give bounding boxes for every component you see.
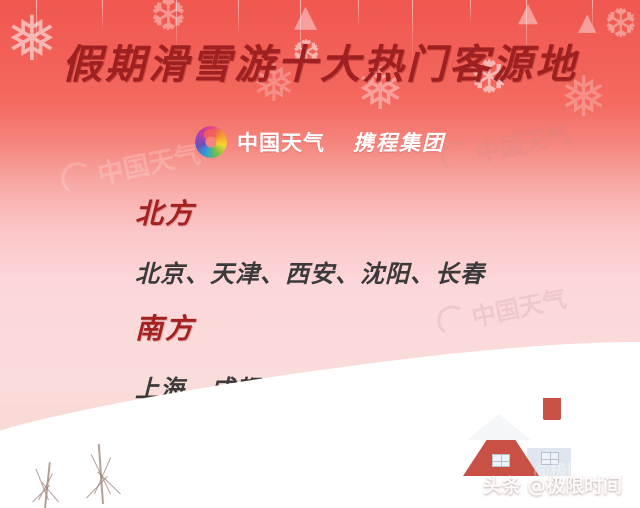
- region-heading-south: 南方: [135, 307, 485, 347]
- region-cities-north: 北京、天津、西安、沈阳、长春: [135, 254, 485, 289]
- cabin-window: [492, 454, 510, 467]
- attribution-platform: 头条: [483, 471, 521, 498]
- logo-row: 中国天气 携程集团: [0, 126, 640, 158]
- poster-canvas: ❅ ❆ ❅ ❆ ❅ ❆ ❅ ❆ ▲ ▲ ▲ 中国天气 中国天气 中国天气 中国天…: [0, 0, 640, 508]
- ornament-string: [470, 0, 471, 22]
- page-title: 假期滑雪游十大热门客源地: [0, 32, 640, 90]
- ornament-string: [592, 0, 593, 30]
- ornament-string: [238, 0, 239, 34]
- pinwheel-spiral-logo-icon: [195, 126, 227, 158]
- attribution: 头条 @极限时间: [483, 471, 622, 498]
- ornament-string: [358, 0, 359, 26]
- partner-brand-label: 携程集团: [353, 127, 445, 157]
- pine-tree-icon: ▲: [294, 2, 317, 32]
- pine-tree-icon: ▲: [518, 0, 538, 26]
- watermark-swirl-icon: [58, 159, 96, 197]
- ornament-string: [102, 0, 103, 30]
- cabin-roof-snow: [467, 414, 531, 440]
- pine-tree-icon: ▲: [578, 10, 596, 34]
- region-block-north: 北方 北京、天津、西安、沈阳、长春: [135, 192, 485, 289]
- weather-brand-label: 中国天气: [237, 127, 325, 157]
- bare-tree-branches: [60, 440, 140, 508]
- attribution-handle: @极限时间: [527, 471, 622, 498]
- cabin-chimney-snow: [539, 388, 565, 398]
- region-heading-north: 北方: [135, 192, 485, 232]
